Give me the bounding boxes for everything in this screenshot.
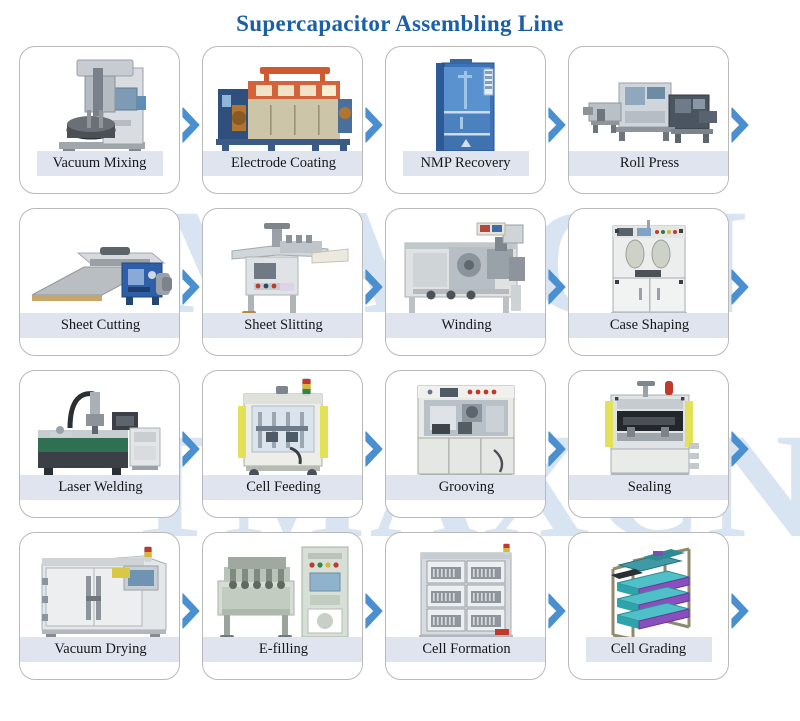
process-step-label: Electrode Coating — [203, 151, 363, 176]
process-step-card[interactable]: Cell Grading — [568, 532, 729, 680]
flow-arrow-icon — [180, 532, 202, 689]
process-step-label: Grooving — [386, 475, 546, 500]
flow-arrow-icon — [180, 208, 202, 365]
process-step-label: NMP Recovery — [403, 151, 529, 176]
flow-arrow-icon — [180, 370, 202, 527]
flow-arrow-icon — [363, 370, 385, 527]
flow-rows-container: Vacuum Mixing Elect — [0, 46, 800, 689]
flow-row: Vacuum Drying — [0, 532, 800, 689]
sheet-cutting-machine-photo — [24, 215, 175, 323]
process-step-label: Vacuum Mixing — [37, 151, 163, 176]
flow-row: Laser Welding Cell Feeding — [0, 370, 800, 527]
flow-arrow-icon — [729, 208, 751, 365]
flow-arrow-icon — [363, 46, 385, 203]
process-step-label: E-filling — [203, 637, 363, 662]
process-step-label: Winding — [386, 313, 546, 338]
process-step-card[interactable]: Cell Feeding — [202, 370, 363, 518]
process-step-card[interactable]: Vacuum Drying — [19, 532, 180, 680]
process-step-label: Cell Feeding — [203, 475, 363, 500]
cell-grading-rack-photo — [573, 539, 724, 647]
process-step-card[interactable]: Sheet Slitting — [202, 208, 363, 356]
process-step-label: Sheet Cutting — [20, 313, 180, 338]
process-step-label: Cell Grading — [586, 637, 712, 662]
flow-arrow-icon — [546, 370, 568, 527]
flow-row: Sheet Cutting Sheet Slitting — [0, 208, 800, 365]
process-step-label: Laser Welding — [20, 475, 180, 500]
cell-feeding-machine-photo — [207, 377, 358, 485]
process-step-label: Sealing — [569, 475, 729, 500]
process-step-card[interactable]: Electrode Coating — [202, 46, 363, 194]
nmp-recovery-cabinet-photo — [390, 53, 541, 161]
process-step-card[interactable]: Case Shaping — [568, 208, 729, 356]
flow-arrow-icon — [546, 532, 568, 689]
supercapacitor-line-diagram: Supercapacitor Assembling Line Vacuum Mi… — [0, 0, 800, 721]
planetary-mixer-machine-photo — [24, 53, 175, 161]
process-step-card[interactable]: Grooving — [385, 370, 546, 518]
flow-arrow-icon — [180, 46, 202, 203]
roll-press-machine-photo — [573, 53, 724, 161]
process-step-card[interactable]: Vacuum Mixing — [19, 46, 180, 194]
process-step-card[interactable]: Winding — [385, 208, 546, 356]
process-step-card[interactable]: Roll Press — [568, 46, 729, 194]
flow-arrow-icon — [363, 208, 385, 365]
flow-arrow-icon — [729, 46, 751, 203]
sealing-machine-photo — [573, 377, 724, 485]
process-step-label: Vacuum Drying — [20, 637, 180, 662]
flow-arrow-icon — [729, 532, 751, 689]
flow-arrow-icon — [546, 208, 568, 365]
flow-arrow-icon — [363, 532, 385, 689]
laser-welding-machine-photo — [24, 377, 175, 485]
flow-arrow-icon — [546, 46, 568, 203]
vacuum-drying-oven-photo — [24, 539, 175, 647]
process-step-label: Case Shaping — [569, 313, 729, 338]
case-shaping-machine-photo — [573, 215, 724, 323]
process-step-card[interactable]: E-filling — [202, 532, 363, 680]
coating-machine-photo — [207, 53, 358, 161]
process-step-card[interactable]: Laser Welding — [19, 370, 180, 518]
page-title: Supercapacitor Assembling Line — [0, 0, 800, 46]
electrolyte-filling-machine-photo — [207, 539, 358, 647]
sheet-slitting-machine-photo — [207, 215, 358, 323]
process-step-label: Sheet Slitting — [203, 313, 363, 338]
flow-row: Vacuum Mixing Elect — [0, 46, 800, 203]
flow-arrow-icon — [729, 370, 751, 527]
process-step-card[interactable]: Sheet Cutting — [19, 208, 180, 356]
grooving-machine-photo — [390, 377, 541, 485]
process-step-card[interactable]: Sealing — [568, 370, 729, 518]
process-step-card[interactable]: Cell Formation — [385, 532, 546, 680]
cell-formation-cabinet-photo — [390, 539, 541, 647]
process-step-card[interactable]: NMP Recovery — [385, 46, 546, 194]
process-step-label: Roll Press — [569, 151, 729, 176]
process-step-label: Cell Formation — [386, 637, 546, 662]
winding-machine-photo — [390, 215, 541, 323]
